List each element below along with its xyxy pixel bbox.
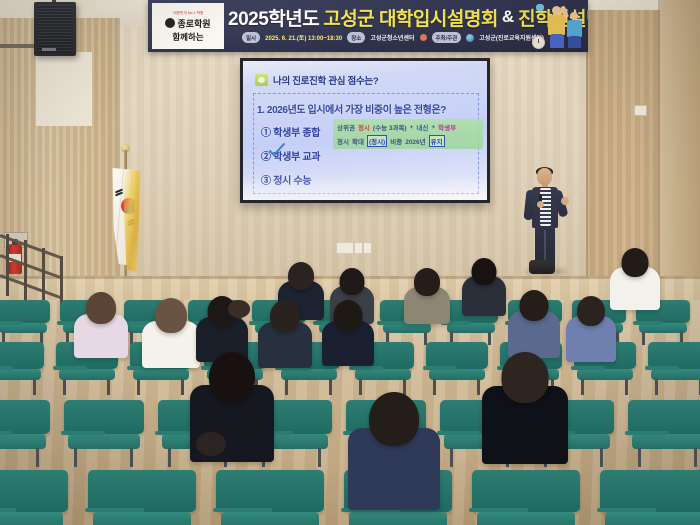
auditorium-chair <box>64 400 144 466</box>
ann1-w3: + <box>410 124 414 131</box>
auditorium-chair <box>216 470 324 525</box>
wall-rail <box>0 44 34 48</box>
chair-seat <box>93 512 190 525</box>
audience-head <box>520 290 549 321</box>
wall-outlet-plate-right <box>634 105 647 116</box>
screen-glare <box>243 174 487 200</box>
auditorium-chair <box>0 342 44 394</box>
logo-mark-icon <box>165 18 175 28</box>
chair-leg <box>581 379 584 395</box>
chair-arm <box>213 508 272 512</box>
audience-head <box>270 300 300 332</box>
meta-label-host: 주최/주관 <box>432 32 462 43</box>
chair-arm <box>0 431 11 435</box>
audience-member <box>482 352 568 464</box>
banner-title-year: 2025학년도 <box>228 4 319 31</box>
logo-name: 종로학원 <box>177 17 210 30</box>
chair-arm <box>0 508 16 512</box>
ann1-w6: 학생부 <box>438 122 456 132</box>
chair-back <box>0 300 50 323</box>
chair-seat <box>605 512 700 525</box>
chair-seat <box>0 512 63 525</box>
chair-leg <box>168 448 171 468</box>
presenter-right-hand <box>561 197 569 205</box>
auditorium-chair <box>628 400 700 466</box>
chair-arm <box>597 508 656 512</box>
annotation-line-1: 상위권 정시 (수능 3과목) + 내신 + 학생부 <box>337 122 480 132</box>
audience-member <box>74 292 128 358</box>
audience-head <box>622 248 649 277</box>
option-1-label: 학생부 종합 <box>273 128 320 139</box>
photo-scene: 대한민국 No.1 학원 종로학원 함께하는 2025학년도 고성군 대학입시설… <box>0 0 700 525</box>
chair-leg <box>488 332 491 345</box>
audience-head <box>577 296 605 326</box>
slide-surface: 나의 진로진학 관심 점수는? 1. 2026년도 입시에서 가장 비중이 높은… <box>243 61 487 200</box>
county-emblem-icon <box>466 34 474 42</box>
chair-arm <box>349 366 383 370</box>
chair-back <box>600 470 700 512</box>
chair-back <box>0 342 44 369</box>
slide-header-text: 나의 진로진학 관심 점수는? <box>273 73 378 87</box>
ann2-w5: 유지 <box>429 135 445 147</box>
audience-member <box>610 248 660 310</box>
logo-tagline: 대한민국 No.1 학원 <box>173 10 203 16</box>
chair-leg <box>600 448 603 468</box>
audience-head <box>414 268 440 296</box>
chair-leg <box>130 448 133 468</box>
audience-head <box>340 268 365 295</box>
audience-head <box>209 352 255 402</box>
chair-leg <box>642 332 645 345</box>
chair-leg <box>285 379 288 395</box>
banner-title-amp: & <box>502 7 514 27</box>
ann2-w2: (정시) <box>367 135 387 147</box>
presenter-left-hand <box>537 201 544 208</box>
audience-member <box>348 392 440 510</box>
chair-leg <box>625 379 628 395</box>
sponsor-logo: 대한민국 No.1 학원 종로학원 함께하는 <box>152 3 224 49</box>
audience-head <box>502 352 549 403</box>
chair-arm <box>625 431 669 435</box>
slide-question: 1. 2026년도 입시에서 가장 비중이 높은 전형은? <box>257 101 446 116</box>
auditorium-chair <box>0 300 50 344</box>
slide-bullet-icon <box>255 74 268 86</box>
chair-arm <box>0 366 13 370</box>
chair-leg <box>74 448 77 468</box>
annotation-line-2: 정시 확대 (정시) 비중 2026년 유지 <box>337 135 480 147</box>
chair-seat <box>632 434 700 449</box>
wall-switch-plate <box>354 242 363 254</box>
chair-seat <box>349 512 446 525</box>
projection-screen: 나의 진로진학 관심 점수는? 1. 2026년도 입시에서 가장 비중이 높은… <box>240 58 490 203</box>
option-1-marker: ① <box>261 128 271 139</box>
logo-subtitle: 함께하는 <box>172 31 203 43</box>
presenter <box>523 168 567 272</box>
chair-leg <box>450 448 453 468</box>
ceiling-speaker <box>34 2 76 56</box>
chair-back <box>472 470 580 512</box>
chair-seat <box>477 512 574 525</box>
chair-arm <box>85 508 144 512</box>
chair-back <box>216 470 324 512</box>
audience-head <box>288 262 314 290</box>
chair-leg <box>655 379 658 395</box>
meta-value-date: 2025. 6. 21.(토) 13:00~18:30 <box>265 33 342 42</box>
ann1-w0: 상위권 <box>337 122 355 132</box>
chair-leg <box>329 379 332 395</box>
chair-leg <box>694 448 697 468</box>
auditorium-chair <box>88 470 196 525</box>
audience-member <box>322 300 374 366</box>
ann2-w0: 정시 <box>337 136 349 146</box>
meta-label-date: 일시 <box>242 32 260 43</box>
chair-leg <box>36 448 39 468</box>
auditorium-chair <box>648 342 700 394</box>
wall-switch-plate <box>363 242 372 254</box>
event-banner: 대한민국 No.1 학원 종로학원 함께하는 2025학년도 고성군 대학입시설… <box>148 0 588 52</box>
hair-bun <box>228 300 250 318</box>
speaker-badge <box>42 48 56 51</box>
chair-back <box>628 400 700 434</box>
answer-checkmark-icon <box>269 143 285 157</box>
banner-title-main: 고성군 대학입시설명회 <box>323 4 498 31</box>
hair-bun <box>196 432 226 456</box>
slide-option-1: ① 학생부 종합 <box>261 124 320 139</box>
chair-arm <box>61 431 105 435</box>
audience-member <box>404 268 450 324</box>
chair-leg <box>107 379 110 395</box>
ann2-w1: 확대 <box>352 136 364 146</box>
chair-seat <box>221 512 318 525</box>
chair-arm <box>423 366 457 370</box>
chair-leg <box>63 379 66 395</box>
banner-cartoon-figures <box>524 2 586 50</box>
audience-member <box>566 296 616 362</box>
left-wall-inset <box>36 52 92 126</box>
far-right-wall <box>660 0 700 300</box>
speaker-grill <box>37 5 73 53</box>
chair-back <box>0 470 68 512</box>
chair-leg <box>181 379 184 395</box>
meta-value-venue: 고성군청소년센터 <box>370 33 414 42</box>
clock-icon <box>532 36 545 49</box>
wall-seam <box>586 10 588 310</box>
audience-head <box>369 392 419 446</box>
chair-back <box>88 470 196 512</box>
chair-leg <box>33 379 36 395</box>
chair-arm <box>469 508 528 512</box>
chair-leg <box>137 379 140 395</box>
chair-arm <box>645 366 679 370</box>
chair-arm <box>53 366 87 370</box>
audience-member <box>508 290 560 358</box>
chair-arm <box>437 431 481 435</box>
audience-head <box>334 300 363 331</box>
chair-back <box>648 342 700 369</box>
seal-icon <box>420 34 427 41</box>
chair-leg <box>318 448 321 468</box>
chair-back <box>426 342 488 369</box>
slide-header: 나의 진로진학 관심 점수는? <box>255 73 378 87</box>
chair-arm <box>571 366 605 370</box>
audience-head <box>155 298 187 333</box>
chair-back <box>64 400 144 434</box>
korean-national-flag <box>108 168 142 273</box>
chair-arm <box>633 321 663 325</box>
chair-seat <box>0 434 46 449</box>
chair-arm <box>0 321 23 325</box>
ann2-w3: 비중 <box>390 136 402 146</box>
ann2-w4: 2026년 <box>405 136 425 146</box>
chair-leg <box>638 448 641 468</box>
wall-outlet-plate <box>336 242 354 254</box>
chair-leg <box>477 379 480 395</box>
auditorium-chair <box>0 470 68 525</box>
auditorium-chair <box>426 342 488 394</box>
ann1-w1: 정시 <box>358 122 370 132</box>
auditorium-chair <box>0 400 50 466</box>
chair-arm <box>377 321 407 325</box>
slide-annotation-box: 상위권 정시 (수능 3과목) + 내신 + 학생부 정시 확대 (정시) 비중… <box>333 119 483 149</box>
auditorium-chair <box>472 470 580 525</box>
ann1-w4: 내신 <box>416 122 428 132</box>
audience-head <box>472 258 497 285</box>
auditorium-chair <box>600 470 700 525</box>
presenter-bag <box>529 260 555 274</box>
audience-head <box>86 292 116 324</box>
audience-member <box>462 258 506 316</box>
banner-title: 2025학년도 고성군 대학입시설명회 & 진학컨설팅 <box>228 4 528 30</box>
chair-back <box>0 400 50 434</box>
banner-meta: 일시 2025. 6. 21.(토) 13:00~18:30 장소 고성군청소년… <box>242 32 544 43</box>
ann1-w2: (수능 3과목) <box>373 122 407 132</box>
ann1-w5: + <box>431 124 435 131</box>
meta-label-venue: 장소 <box>347 32 365 43</box>
